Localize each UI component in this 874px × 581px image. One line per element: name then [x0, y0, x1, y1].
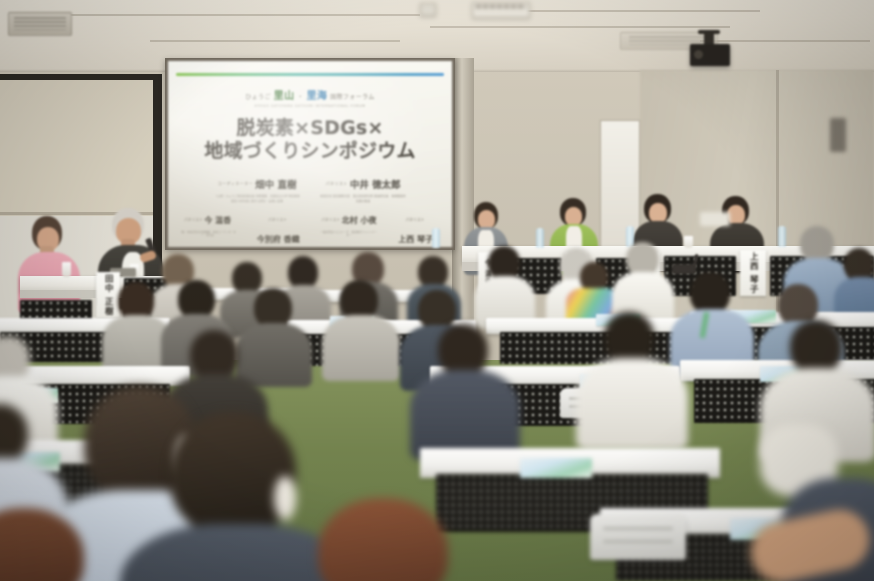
head	[488, 246, 520, 280]
water-bottle	[432, 228, 440, 248]
head	[790, 320, 842, 374]
role-bio: （公財）ひょうご環境創造協会 専務理事 兵庫県立大学 特任教授 環境人材育成に関…	[214, 194, 300, 202]
role-name: 畑中 直樹	[255, 177, 296, 191]
slide-accent-bar	[176, 73, 444, 76]
head	[170, 412, 296, 536]
head	[604, 312, 654, 364]
water-bottle	[778, 226, 786, 247]
logo-prefix: ひょうご	[245, 94, 271, 101]
water-bottle	[536, 228, 544, 248]
panelist-tag: パネリスト	[184, 217, 203, 223]
chair	[590, 514, 686, 560]
head	[438, 324, 488, 376]
torso	[322, 315, 400, 381]
logo-separator: ・	[297, 94, 303, 101]
conference-room-photo: ひょうご 里山 ・ 里海 国際フォーラム HYOGO SATOYAMA SATO…	[0, 0, 874, 581]
name-placard: 上西 琴子	[740, 250, 766, 296]
ceiling-seam	[430, 26, 730, 28]
head	[254, 288, 292, 328]
slide-logo: ひょうご 里山 ・ 里海 国際フォーラム	[178, 87, 442, 102]
partition-frame-top	[0, 74, 158, 80]
projector-mount	[704, 33, 714, 44]
panelist-tag: パネリスト	[268, 217, 287, 223]
logo-satoumi: 里海	[306, 91, 327, 102]
name-placard: 田中 正樹	[96, 272, 120, 318]
torso	[410, 370, 520, 460]
slide-panelist: パネリスト今 温香 （株）地域活性化支援機構 地域コーディネーター・研究員	[178, 210, 237, 247]
left-wall-upper-panel	[0, 76, 158, 216]
cup	[684, 236, 693, 248]
slide-title-line2: 地域づくりシンポジウム	[178, 140, 442, 163]
slide-panelist: パネリスト今別府 香織 NPO法人まちづくり・まちおこし 協働コーディネーター	[248, 210, 308, 247]
head	[800, 226, 834, 262]
face	[649, 203, 667, 223]
presentation-slide: ひょうご 里山 ・ 里海 国際フォーラム HYOGO SATOYAMA SATO…	[168, 61, 452, 247]
logo-subline: HYOGO SATOYAMA SATOUMI INTERNATIONAL FOR…	[178, 104, 442, 108]
head	[418, 290, 456, 330]
slide-panelist: パネリスト北村 小夜 一般社団法人エコリーグ 環境教育ファシリテーター	[319, 210, 378, 247]
panelist-bio: 一般社団法人エコリーグ 環境教育ファシリテーター	[319, 231, 378, 238]
projector-lens	[694, 50, 703, 59]
panelist-tag: パネリスト	[321, 217, 340, 223]
torso	[576, 358, 688, 450]
projector-icon	[690, 44, 730, 66]
ceiling-fixture	[420, 3, 436, 16]
slide-title: 脱炭素×SDGs× 地域づくりシンポジウム	[178, 117, 442, 163]
panelist-name: 今 温香	[204, 215, 231, 226]
panelist-name: 上西 琴子	[398, 234, 433, 245]
cup	[62, 262, 71, 277]
wall-speaker	[830, 118, 846, 152]
panelist-name: 今別府 香織	[257, 234, 300, 245]
ceiling-seam	[700, 40, 870, 42]
torso	[236, 323, 312, 387]
ceiling-seam	[60, 14, 420, 16]
handout	[520, 458, 592, 478]
head	[340, 280, 378, 320]
ceiling-sign	[472, 2, 530, 18]
mask-strap	[274, 476, 296, 520]
head	[190, 330, 238, 380]
logo-satoyama: 里山	[274, 91, 295, 102]
ac-vent-icon	[8, 12, 72, 36]
role-tag: パネリスト	[325, 181, 347, 187]
slide-roles: コーディネーター畑中 直樹 （公財）ひょうご環境創造協会 専務理事 兵庫県立大学…	[178, 173, 442, 202]
head	[690, 272, 730, 314]
role-bio: 前環境省 環境事務次官 国立環境研究所 客員研究員 地域循環共生圏の推進	[320, 194, 406, 202]
panelist-bio: （株）地域活性化支援機構 地域コーディネーター・研究員	[178, 231, 237, 238]
slide-role: パネリスト中井 徳太郎 前環境省 環境事務次官 国立環境研究所 客員研究員 地域…	[320, 173, 406, 202]
placard-name: 田中 正樹	[104, 274, 113, 316]
ceiling-seam	[520, 10, 760, 12]
logo-suffix: 国際フォーラム	[330, 94, 375, 101]
slide-role: コーディネーター畑中 直樹 （公財）ひょうご環境創造協会 専務理事 兵庫県立大学…	[214, 173, 300, 202]
panelist-name: 北村 小夜	[342, 215, 377, 226]
documents	[700, 212, 730, 226]
head	[626, 242, 659, 276]
projection-screen[interactable]: ひょうご 里山 ・ 里海 国際フォーラム HYOGO SATOYAMA SATO…	[168, 61, 452, 247]
ceiling-seam	[150, 40, 400, 42]
placard-name: 上西 琴子	[749, 252, 758, 294]
panelist-tag: パネリスト	[405, 217, 424, 223]
slide-title-line1: 脱炭素×SDGs×	[178, 117, 442, 140]
role-tag: コーディネーター	[218, 181, 254, 187]
slide-panelists: パネリスト今 温香 （株）地域活性化支援機構 地域コーディネーター・研究員 パネ…	[178, 210, 442, 247]
role-name: 中井 徳太郎	[350, 177, 401, 191]
